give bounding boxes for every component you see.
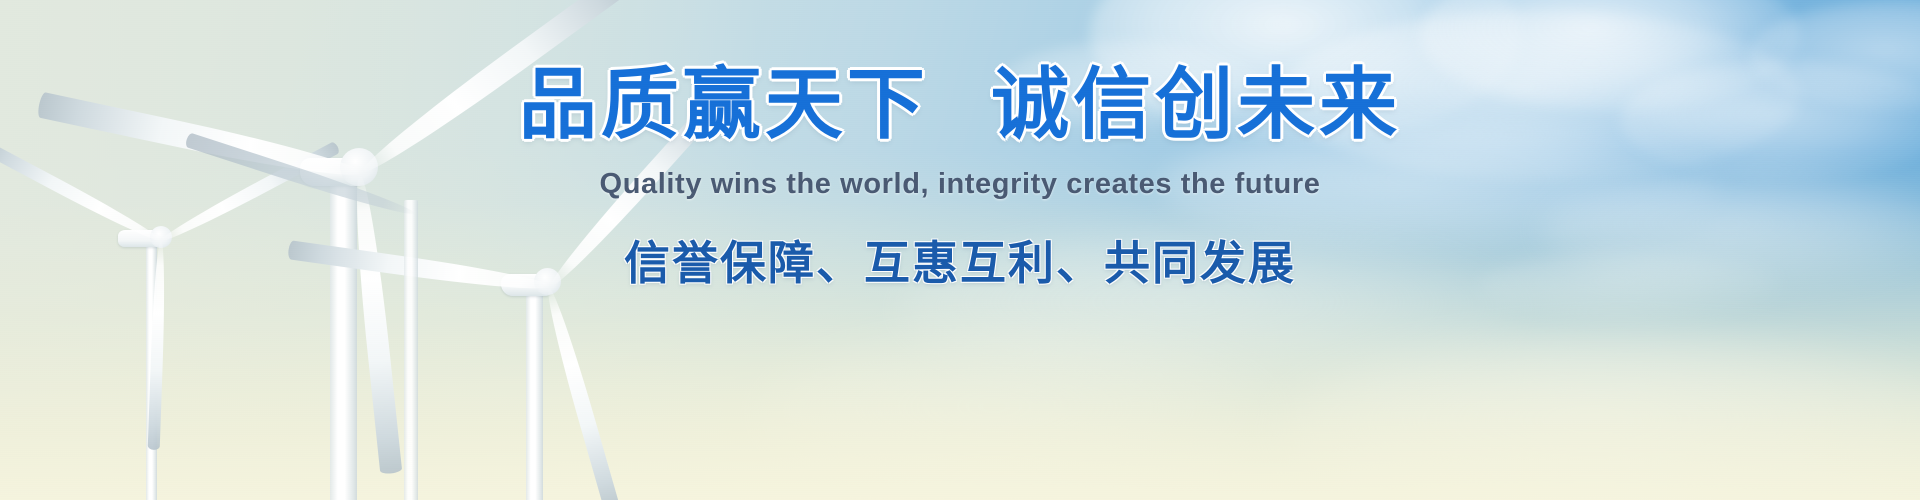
hero-banner: 品质赢天下 诚信创未来 Quality wins the world, inte… [0,0,1920,500]
turbine-tower [404,200,418,500]
turbine-tower [330,180,357,500]
sky-bottom-glow [0,200,1920,500]
turbine-tower [526,293,543,500]
